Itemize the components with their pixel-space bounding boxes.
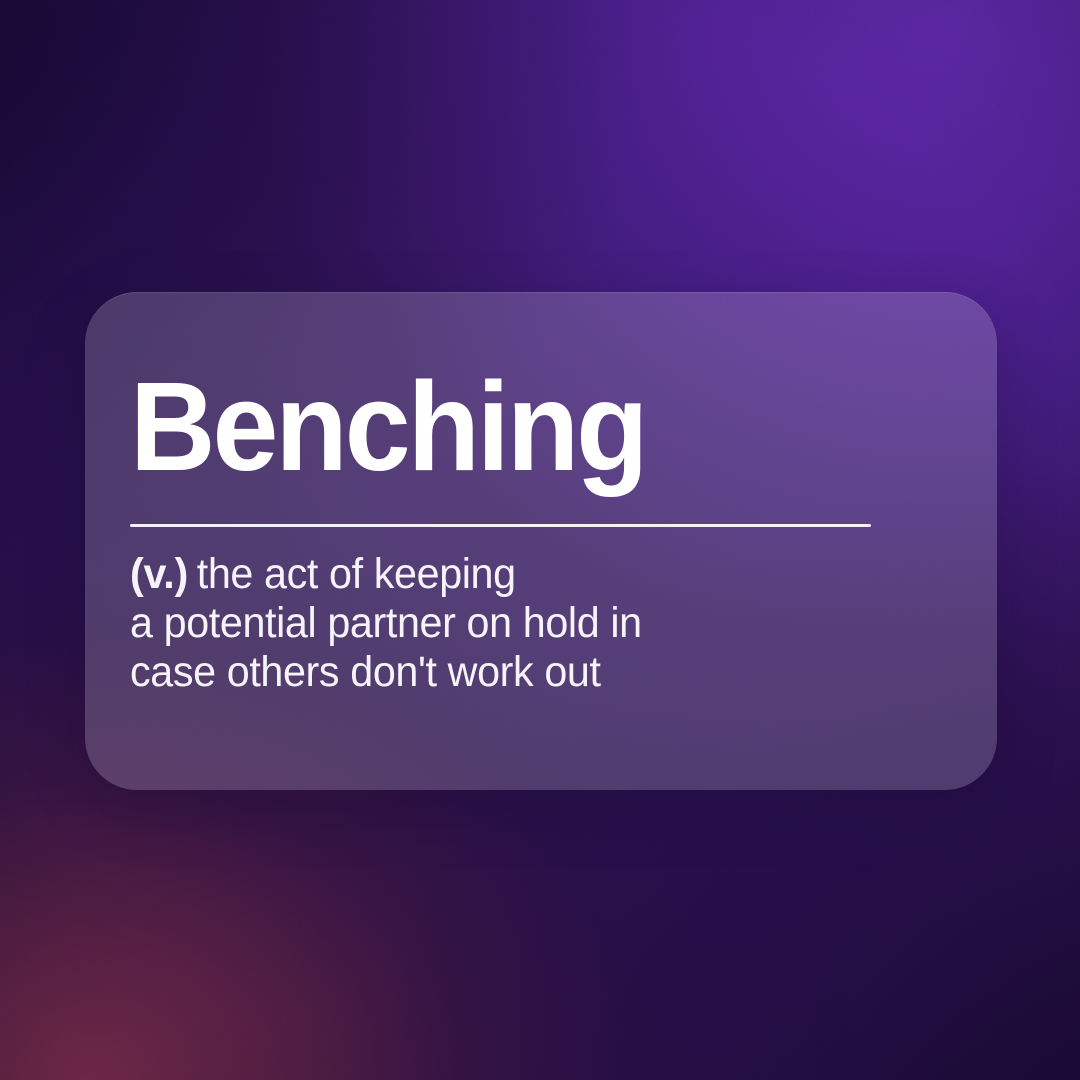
- definition-line-1: (v.)the act of keeping: [130, 550, 898, 599]
- part-of-speech-tag: (v.): [130, 550, 188, 598]
- definition-line-1-text: the act of keeping: [197, 550, 516, 598]
- card-content-area: Benching (v.)the act of keeping a potent…: [130, 292, 952, 790]
- definition-card-canvas: Benching (v.)the act of keeping a potent…: [0, 0, 1080, 1080]
- definition-line-3: case others don't work out: [130, 648, 898, 697]
- title-divider-rule: [130, 524, 871, 527]
- page-title: Benching: [130, 364, 646, 490]
- definition-line-2: a potential partner on hold in: [130, 599, 898, 648]
- glass-definition-card: Benching (v.)the act of keeping a potent…: [85, 292, 997, 790]
- definition-text-block: (v.)the act of keeping a potential partn…: [130, 550, 898, 697]
